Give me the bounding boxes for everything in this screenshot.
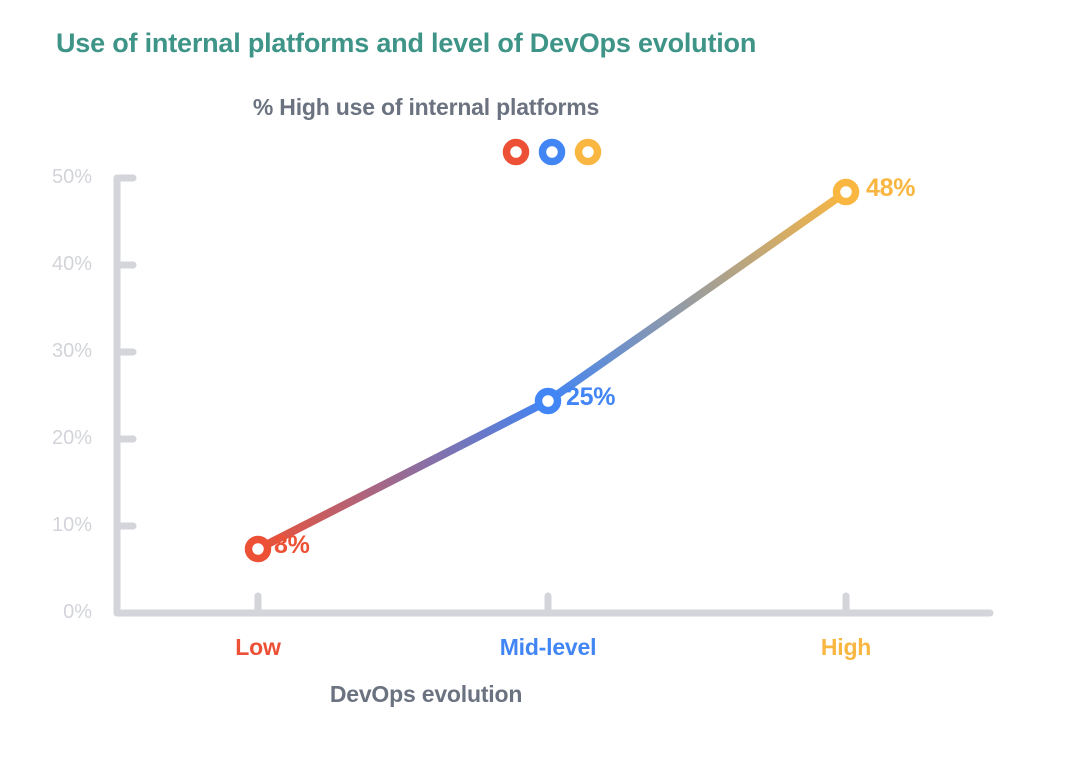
y-tick-label-20: 20% [34, 427, 92, 450]
x-tick-label-low: Low [235, 634, 280, 661]
y-tick-label-30: 30% [34, 340, 92, 363]
x-tick-label-high: High [821, 634, 871, 661]
x-tick-label-mid: Mid-level [500, 634, 597, 661]
value-label-mid: 25% [566, 383, 615, 412]
y-axis-ticks [120, 178, 133, 526]
y-tick-label-50: 50% [34, 166, 92, 189]
value-label-high: 48% [866, 174, 915, 203]
x-axis-title: DevOps evolution [0, 681, 1072, 708]
line-segment-mid-high [548, 192, 846, 401]
data-point-low [249, 540, 268, 559]
data-point-mid [539, 392, 558, 411]
y-tick-label-40: 40% [34, 253, 92, 276]
y-tick-label-10: 10% [34, 514, 92, 537]
x-axis-ticks [258, 596, 846, 610]
line-segment-low-mid [258, 401, 548, 549]
y-tick-label-0: 0% [34, 601, 92, 624]
value-label-low: 8% [274, 531, 310, 560]
chart-page: Use of internal platforms and level of D… [0, 0, 1072, 766]
data-point-high [837, 183, 856, 202]
